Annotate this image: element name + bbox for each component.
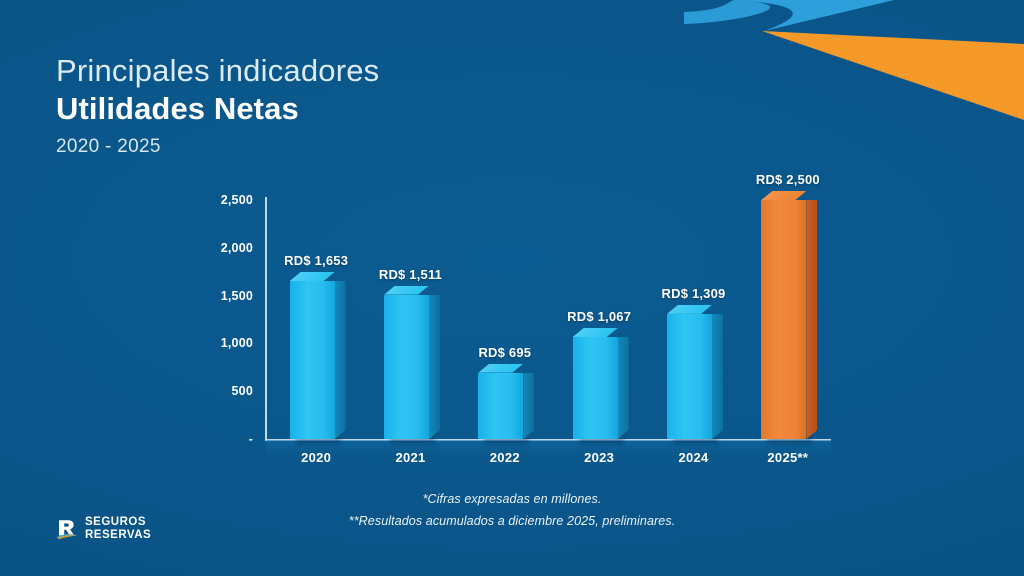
- x-axis-category-label: 2022: [490, 450, 520, 465]
- bar-front-face: [573, 337, 618, 439]
- bar-group[interactable]: RD$ 2,5002025**: [761, 200, 806, 439]
- y-axis-line: [265, 197, 267, 440]
- bar-front-face: [384, 295, 429, 439]
- bar-value-label: RD$ 1,067: [567, 309, 631, 324]
- bar-side-face: [523, 373, 534, 439]
- bar[interactable]: [290, 281, 335, 439]
- x-axis-category-label: 2025**: [767, 450, 808, 465]
- y-axis-tick: 2,000: [221, 241, 253, 255]
- bar-group[interactable]: RD$ 1,3092024: [667, 314, 712, 439]
- slide-canvas: Principales indicadores Utilidades Netas…: [0, 0, 1024, 576]
- x-axis-category-label: 2024: [678, 450, 708, 465]
- bar-side-face: [806, 200, 817, 439]
- x-axis-category-label: 2023: [584, 450, 614, 465]
- bar-front-face: [667, 314, 712, 439]
- bar-side-face: [335, 281, 346, 439]
- x-axis-category-label: 2021: [395, 450, 425, 465]
- bar-group[interactable]: RD$ 6952022: [478, 373, 523, 439]
- bar-front-face: [290, 281, 335, 439]
- bar-group[interactable]: RD$ 1,6532020: [290, 281, 335, 439]
- bar-front-face: [478, 373, 523, 439]
- bar-top-face: [384, 286, 429, 295]
- bar-group[interactable]: RD$ 1,0672023: [573, 337, 618, 439]
- bar[interactable]: [761, 200, 806, 439]
- bar[interactable]: [478, 373, 523, 439]
- bar-value-label: RD$ 1,653: [284, 253, 348, 268]
- seguros-reservas-logo: SEGUROS RESERVAS: [55, 517, 151, 541]
- y-axis-tick: 1,000: [221, 336, 253, 350]
- y-axis-tick: -: [249, 432, 253, 446]
- bar-value-label: RD$ 2,500: [756, 172, 820, 187]
- bar[interactable]: [384, 295, 429, 439]
- logo-line-2: RESERVAS: [85, 530, 151, 542]
- bar-top-face: [573, 328, 618, 337]
- footnote-2: **Resultados acumulados a diciembre 2025…: [0, 511, 1024, 533]
- footnotes: *Cifras expresadas en millones. **Result…: [0, 489, 1024, 533]
- chart-floor: [266, 440, 831, 456]
- bar-side-face: [429, 295, 440, 439]
- logo-line-1: SEGUROS: [85, 517, 151, 529]
- reservas-r-swoosh-icon: [55, 517, 79, 541]
- y-axis-tick: 2,500: [221, 193, 253, 207]
- bar-value-label: RD$ 695: [478, 345, 531, 360]
- bar-top-face: [761, 191, 806, 200]
- bar-top-face: [478, 364, 523, 373]
- bar-top-face: [667, 305, 712, 314]
- bar-value-label: RD$ 1,309: [662, 286, 726, 301]
- bar[interactable]: [667, 314, 712, 439]
- x-axis-category-label: 2020: [301, 450, 331, 465]
- bar-value-label: RD$ 1,511: [379, 267, 442, 282]
- y-axis-tick: 1,500: [221, 289, 253, 303]
- bar-side-face: [618, 337, 629, 439]
- y-axis-tick: 500: [232, 384, 253, 398]
- bar-front-face: [761, 200, 806, 439]
- bar[interactable]: [573, 337, 618, 439]
- bar-side-face: [712, 314, 723, 439]
- bar-top-face: [290, 272, 335, 281]
- bar-group[interactable]: RD$ 1,5112021: [384, 295, 429, 439]
- footnote-1: *Cifras expresadas en millones.: [0, 489, 1024, 511]
